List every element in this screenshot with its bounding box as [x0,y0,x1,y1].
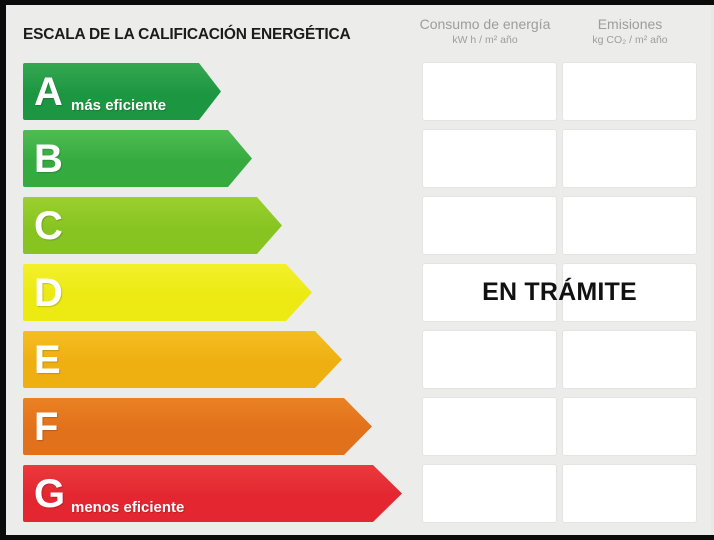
rating-bar-c: C [23,197,282,254]
emissions-cell-a [563,63,696,120]
emissions-cell-f [563,398,696,455]
rating-bar-b: B [23,130,252,187]
rating-row: C [6,197,711,254]
rating-row: B [6,130,711,187]
rating-letter-f: F [34,407,58,447]
rating-row: Gmenos eficiente [6,465,711,522]
column-header-emissions-title: Emisiones [557,16,703,33]
consumption-cell-d [423,264,556,321]
consumption-cell-b [423,130,556,187]
rating-letter-c: C [34,206,63,246]
column-header-consumption-unit: kW h / m² año [412,33,558,47]
emissions-cell-d [563,264,696,321]
consumption-cell-e [423,331,556,388]
consumption-cell-g [423,465,556,522]
emissions-cell-c [563,197,696,254]
label-sheet: ESCALA DE LA CALIFICACIÓN ENERGÉTICA Con… [6,5,711,535]
rating-letter-a: A [34,72,63,112]
arrow-shape-f [23,398,372,455]
column-header-emissions-unit: kg CO₂ / m² año [557,33,703,47]
emissions-cell-g [563,465,696,522]
column-header-consumption: Consumo de energía kW h / m² año [412,16,558,47]
emissions-cell-b [563,130,696,187]
rating-letter-b: B [34,139,63,179]
arrow-shape-e [23,331,342,388]
page-title: ESCALA DE LA CALIFICACIÓN ENERGÉTICA [23,26,351,44]
rating-bar-g: Gmenos eficiente [23,465,402,522]
rating-note-g: menos eficiente [71,499,184,516]
column-header-consumption-title: Consumo de energía [412,16,558,33]
consumption-cell-a [423,63,556,120]
rating-row: F [6,398,711,455]
rating-bar-f: F [23,398,372,455]
rating-bar-d: D [23,264,312,321]
frame-left-edge [0,0,6,540]
rating-letter-d: D [34,273,63,313]
energy-rating-label: ESCALA DE LA CALIFICACIÓN ENERGÉTICA Con… [0,0,714,540]
rating-bar-a: Amás eficiente [23,63,221,120]
rating-row: Amás eficiente [6,63,711,120]
emissions-cell-e [563,331,696,388]
consumption-cell-c [423,197,556,254]
rating-row: E [6,331,711,388]
rating-bar-e: E [23,331,342,388]
frame-top-edge [0,0,714,5]
frame-bottom-edge [0,535,714,540]
rating-note-a: más eficiente [71,97,166,114]
rating-row: DEN TRÁMITE [6,264,711,321]
rating-letter-g: G [34,474,65,514]
rating-letter-e: E [34,340,61,380]
arrow-shape-d [23,264,312,321]
column-header-emissions: Emisiones kg CO₂ / m² año [557,16,703,47]
consumption-cell-f [423,398,556,455]
